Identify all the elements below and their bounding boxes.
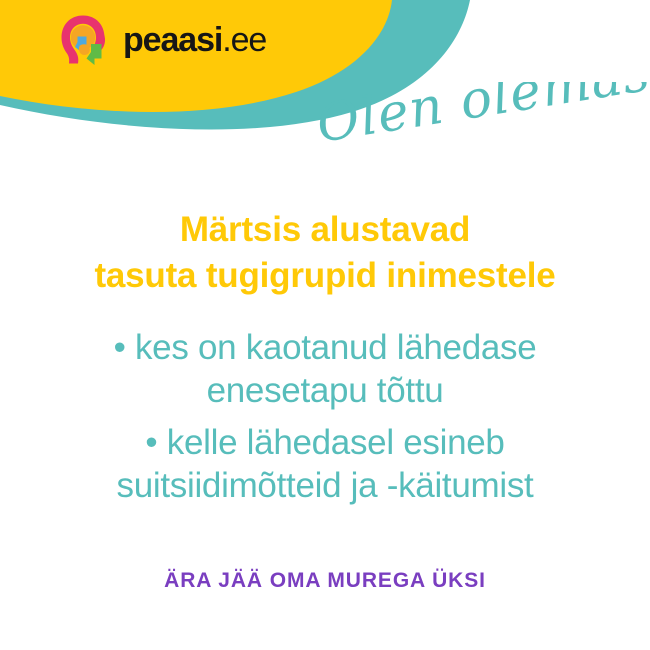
headline-line-2: tasuta tugigrupid inimestele (0, 253, 650, 299)
brand-wordmark: peaasi.ee (123, 23, 266, 57)
bullet-2-line-2: suitsiidimõtteid ja -käitumist (0, 464, 650, 507)
bullet-item-2: • kelle lähedasel esineb suitsiidimõttei… (0, 421, 650, 508)
brand-logo[interactable]: peaasi.ee (58, 12, 266, 68)
footer-slogan: ÄRA JÄÄ OMA MUREGA ÜKSI (0, 568, 650, 593)
wordmark-strong: peaasi (123, 23, 222, 57)
peaasi-head-icon (58, 14, 110, 66)
bullet-1-line-1: • kes on kaotanud lähedase (0, 326, 650, 369)
bullet-list: • kes on kaotanud lähedase enesetapu tõt… (0, 326, 650, 508)
bullet-1-line-2: enesetapu tõttu (0, 369, 650, 412)
headline: Märtsis alustavad tasuta tugigrupid inim… (0, 207, 650, 299)
script-tagline-art: Olen olemas! (318, 82, 648, 164)
logo-orange-lobe (79, 44, 90, 55)
bullet-2-line-1: • kelle lähedasel esineb (0, 421, 650, 464)
script-tagline-text: Olen olemas! (318, 82, 648, 155)
bullet-item-1: • kes on kaotanud lähedase enesetapu tõt… (0, 326, 650, 413)
poster-canvas: peaasi.ee Olen olemas! Märtsis alustavad… (0, 0, 650, 650)
wordmark-light: .ee (222, 23, 266, 57)
script-tagline: Olen olemas! (318, 82, 648, 164)
headline-line-1: Märtsis alustavad (0, 207, 650, 253)
